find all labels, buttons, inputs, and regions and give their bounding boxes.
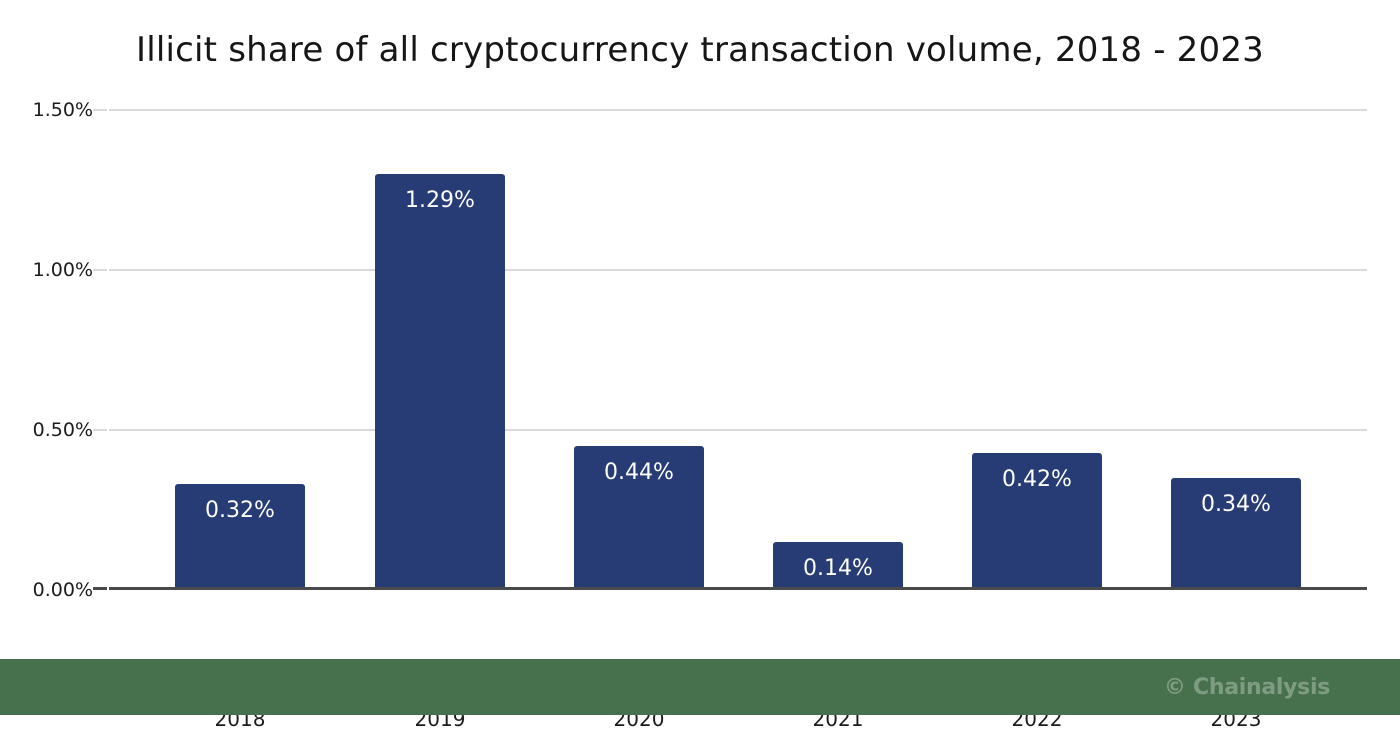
chainalysis-watermark: © Chainalysis [1164, 675, 1330, 700]
footer-band: © Chainalysis [0, 659, 1400, 715]
y-tick-mark-1-00 [93, 269, 107, 271]
bar-value-2019: 1.29% [375, 188, 505, 213]
bar-2020[interactable]: 0.44% [574, 446, 704, 587]
gridline-1-50 [109, 109, 1367, 111]
bar-2023[interactable]: 0.34% [1171, 478, 1301, 587]
chart-title: Illicit share of all cryptocurrency tran… [0, 30, 1400, 70]
bar-2018[interactable]: 0.32% [175, 484, 305, 587]
bar-2022[interactable]: 0.42% [972, 453, 1102, 587]
y-axis-tick-label-0: 0.00% [0, 579, 93, 601]
plot-area: 0.32% 1.29% 0.44% 0.14% 0.42% 0.34% 2018… [109, 109, 1367, 589]
y-tick-mark-0-50 [93, 429, 107, 431]
gridline-0-50 [109, 429, 1367, 431]
bar-value-2018: 0.32% [175, 498, 305, 523]
y-tick-mark-1-50 [93, 109, 107, 111]
bar-2021[interactable]: 0.14% [773, 542, 903, 587]
bar-value-2021: 0.14% [773, 556, 903, 581]
gridline-1-00 [109, 269, 1367, 271]
y-axis-tick-label-1: 0.50% [0, 419, 93, 441]
y-axis-tick-label-2: 1.00% [0, 259, 93, 281]
bar-value-2022: 0.42% [972, 467, 1102, 492]
bar-value-2023: 0.34% [1171, 492, 1301, 517]
bar-2019[interactable]: 1.29% [375, 174, 505, 587]
chart-figure: Illicit share of all cryptocurrency tran… [0, 0, 1400, 715]
x-axis-baseline [109, 587, 1367, 590]
bar-value-2020: 0.44% [574, 460, 704, 485]
y-tick-mark-0-00 [93, 587, 107, 590]
y-axis-tick-label-3: 1.50% [0, 99, 93, 121]
